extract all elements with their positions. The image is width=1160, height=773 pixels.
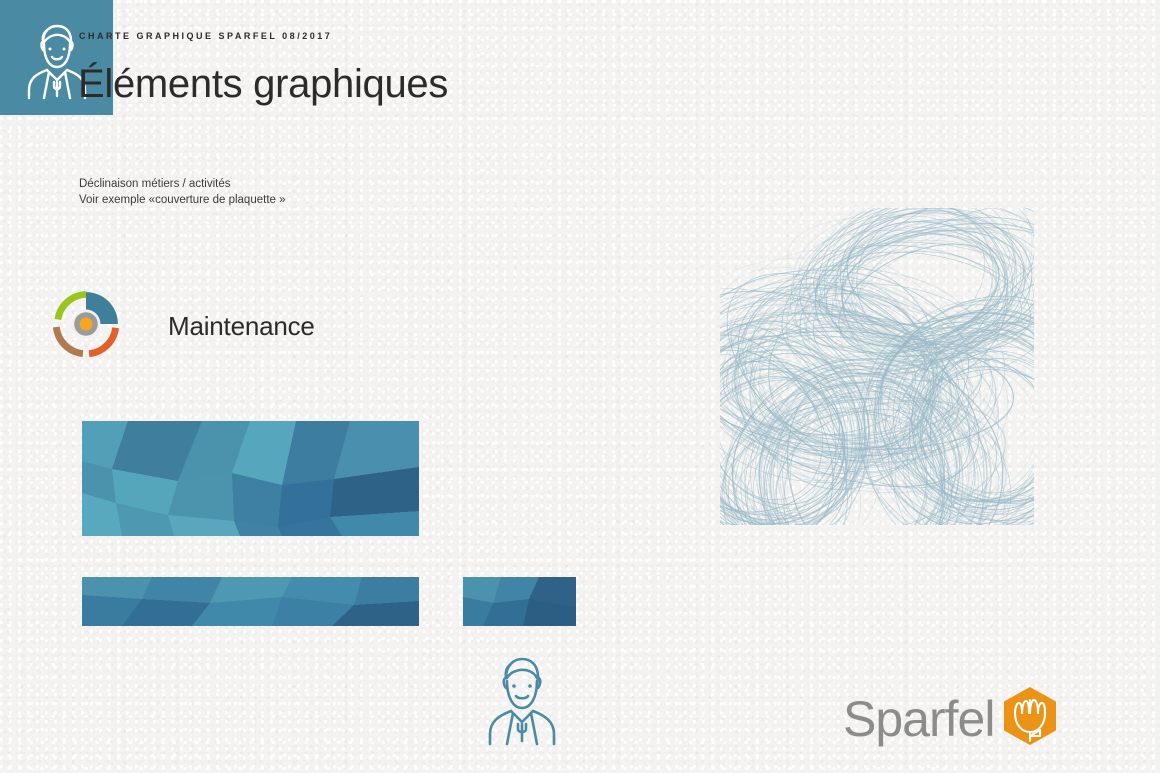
technician-icon xyxy=(477,650,563,750)
page-title: Éléments graphiques xyxy=(78,64,448,104)
sparfel-logo: Sparfel xyxy=(843,686,1058,751)
activity-row: Maintenance xyxy=(48,286,315,367)
document-eyebrow: CHARTE GRAPHIQUE SPARFEL 08/2017 xyxy=(79,31,332,41)
subtitle-block: Déclinaison métiers / activités Voir exe… xyxy=(79,176,286,208)
low-poly-banner-small xyxy=(463,577,576,626)
low-poly-banner-medium xyxy=(82,577,419,626)
subtitle-line-2: Voir exemple «couverture de plaquette » xyxy=(79,192,286,208)
subtitle-line-1: Déclinaison métiers / activités xyxy=(79,176,286,192)
slide-canvas: CHARTE GRAPHIQUE SPARFEL 08/2017 Élément… xyxy=(0,0,1160,773)
abstract-swirl-artwork xyxy=(720,208,1034,525)
sparfel-wordmark: Sparfel xyxy=(843,694,994,744)
artichoke-hexagon-icon xyxy=(1002,686,1058,751)
low-poly-banner-large xyxy=(82,421,419,536)
activity-label: Maintenance xyxy=(168,311,315,342)
maintenance-wheel-icon xyxy=(48,286,124,367)
